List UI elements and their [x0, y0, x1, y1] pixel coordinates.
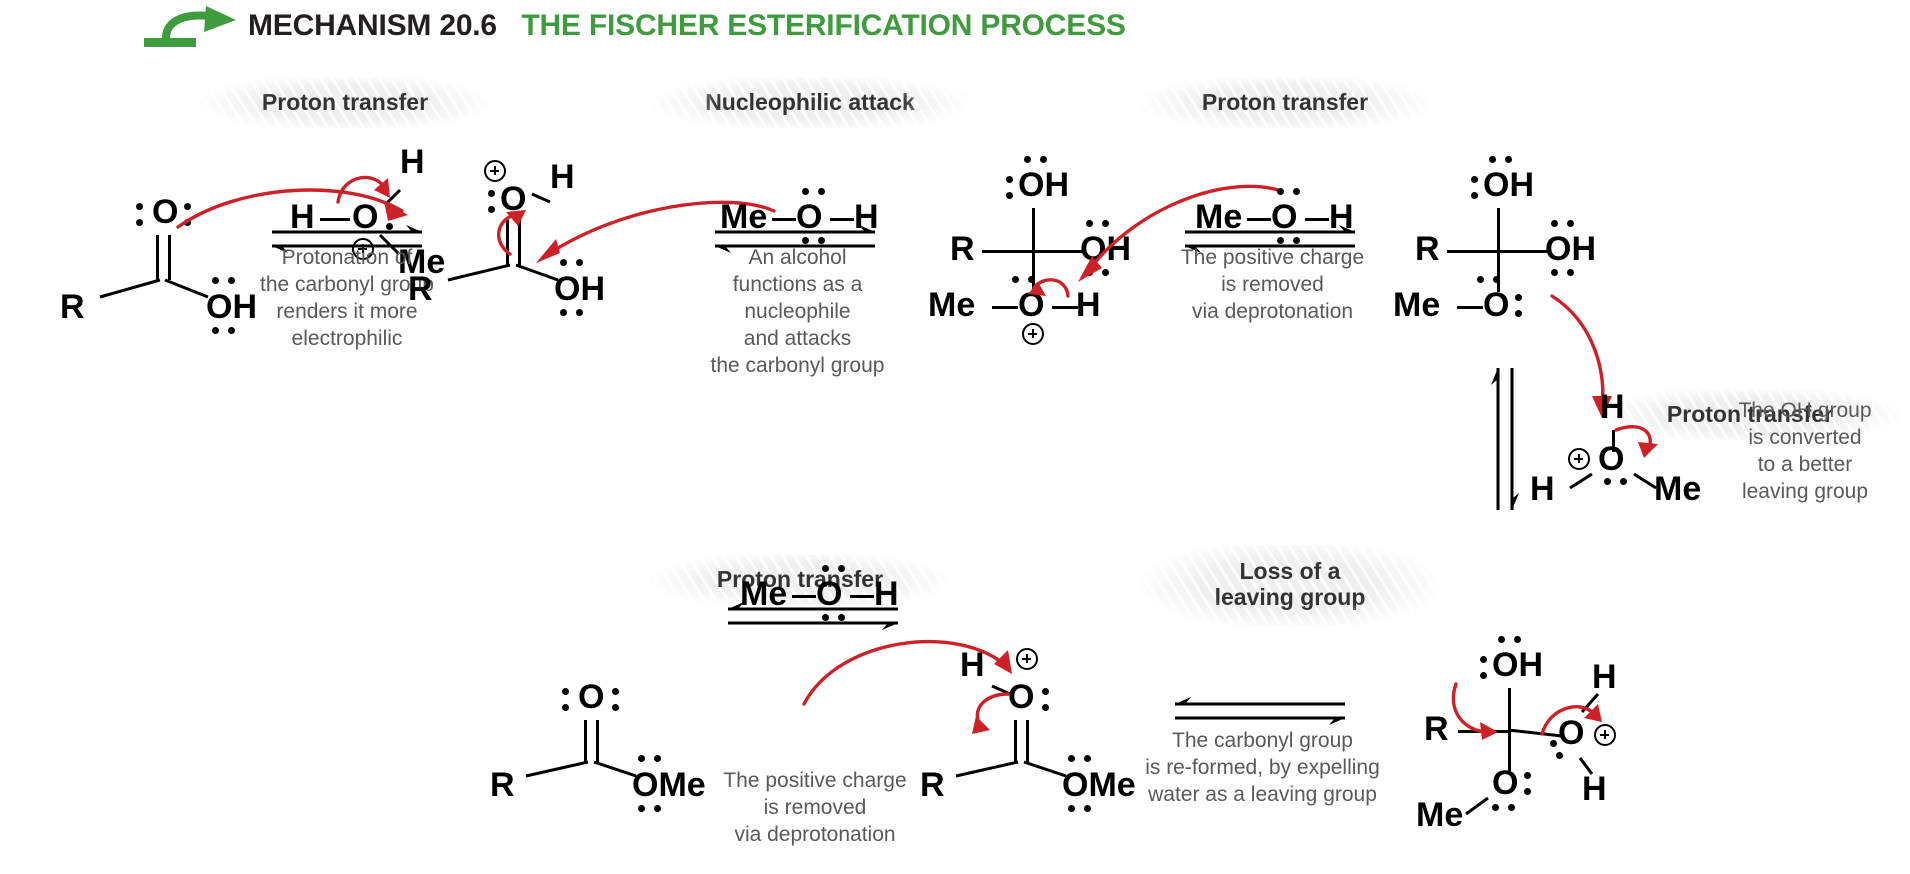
tet2-oh-top-label: OH [1483, 168, 1534, 202]
banner-step2: Nucleophilic attack [650, 78, 970, 128]
curved-arrow-step4-small [1612, 424, 1672, 470]
structure-ester-product: O R OMe [530, 680, 750, 830]
tet2-oh-right-label: OH [1545, 232, 1596, 266]
curved-arrow-step1b [330, 160, 420, 230]
pm2-methyl-label: Me [1654, 472, 1701, 506]
mechanism-number: MECHANISM 20.6 [248, 9, 497, 42]
caption-step4: The OH group is converted to a better le… [1700, 398, 1910, 506]
curved-arrow-step5-leaving [1540, 700, 1620, 760]
ester-ome-label: OMe [632, 768, 706, 802]
r-group-label: R [950, 232, 975, 266]
equilibrium-arrow-step4-vertical [1494, 368, 1524, 513]
positive-charge-icon [1022, 323, 1044, 345]
tet2-methyl-label: Me [1393, 288, 1440, 322]
r-group-label: R [408, 272, 433, 306]
caption-step2: An alcohol functions as a nucleophile an… [690, 245, 905, 379]
banner-step5: Loss of a leaving group [1140, 545, 1440, 625]
curved-arrow-step6-main [800, 630, 1030, 710]
banner-step3: Proton transfer [1140, 78, 1430, 128]
tet1-methyl-label: Me [928, 288, 975, 322]
tet3-methyl-label: Me [1416, 798, 1463, 832]
tet2-oxygen-label: O [1483, 288, 1509, 322]
r-group-label: R [1415, 232, 1440, 266]
equilibrium-arrow-step5 [1175, 700, 1350, 726]
caption-step3: The positive charge is removed via depro… [1160, 245, 1385, 326]
pester-ome-label: OMe [1062, 768, 1136, 802]
header: MECHANISM 20.6 THE FISCHER ESTERIFICATIO… [0, 0, 1910, 56]
page-title: MECHANISM 20.6 THE FISCHER ESTERIFICATIO… [248, 6, 1126, 46]
banner-step1: Proton transfer [200, 78, 490, 128]
curved-arrow-step5-oh [1452, 670, 1532, 750]
equilibrium-arrow-step6 [728, 605, 903, 631]
mechanism-name: THE FISCHER ESTERIFICATION PROCESS [521, 9, 1125, 42]
r-group-label: R [490, 768, 515, 802]
green-curved-arrow-logo-icon [140, 4, 248, 48]
